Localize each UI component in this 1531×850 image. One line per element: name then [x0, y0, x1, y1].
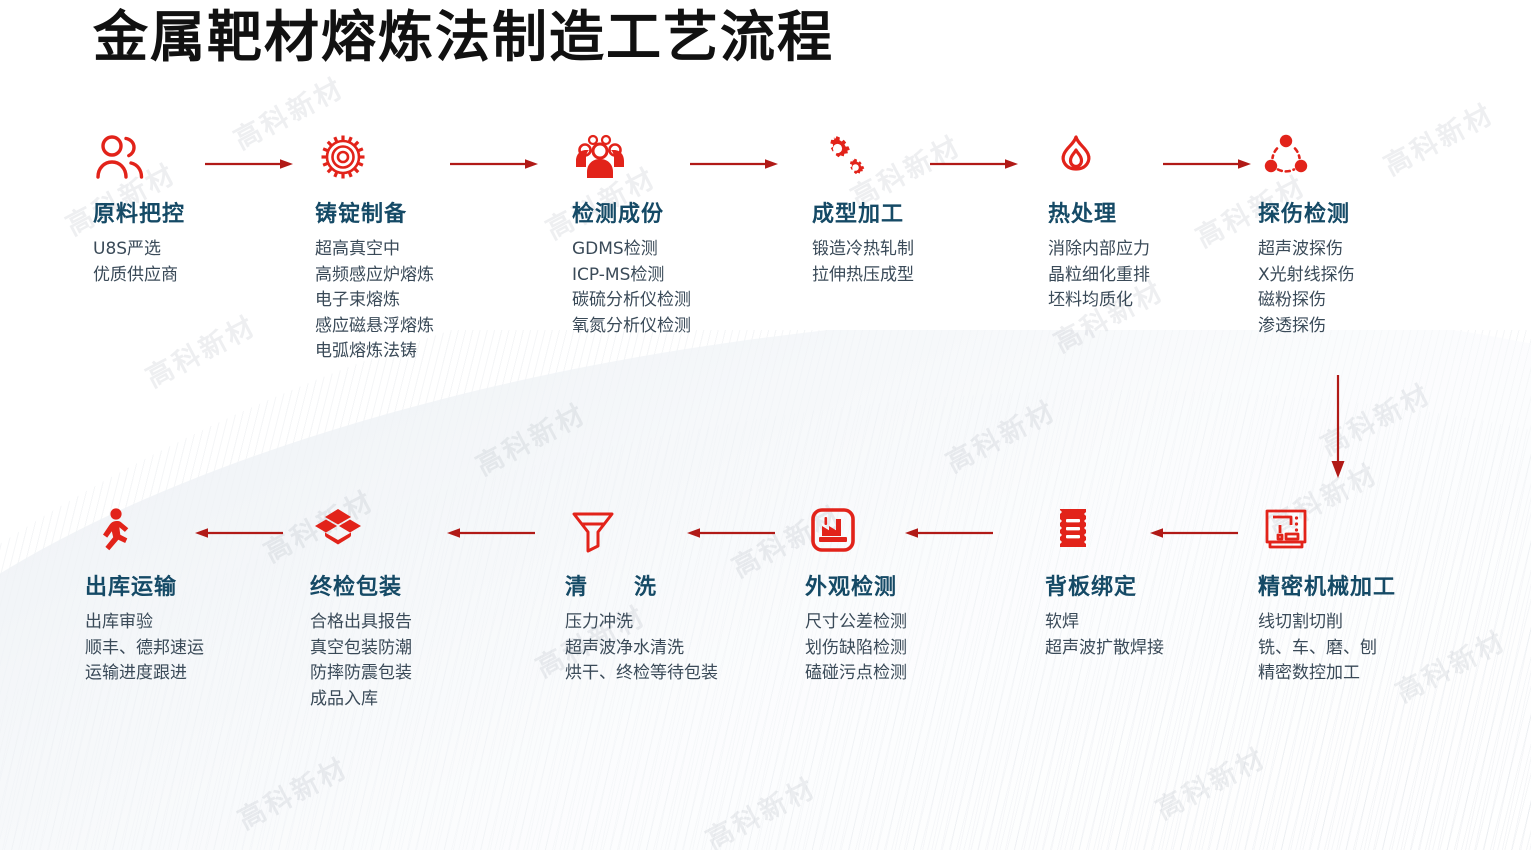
arrow-right-connector [450, 158, 538, 170]
arrow-left-connector [1150, 527, 1238, 539]
flow-step-detail-list: U8S严选优质供应商 [93, 237, 283, 288]
flow-step-detail-list: GDMS检测ICP-MS检测碳硫分析仪检测氧氮分析仪检测 [572, 237, 772, 339]
flow-step-title: 检测成份 [572, 196, 772, 228]
flow-step-detail-list: 超声波探伤X光射线探伤磁粉探伤渗透探伤 [1258, 237, 1438, 339]
flow-step-detail-item: X光射线探伤 [1258, 263, 1438, 289]
flow-step-detail-list: 软焊超声波扩散焊接 [1045, 610, 1230, 661]
flow-step-detail-item: 氧氮分析仪检测 [572, 314, 772, 340]
flow-step-detail-item: 软焊 [1045, 610, 1230, 636]
flow-step-detail-item: 超声波探伤 [1258, 237, 1438, 263]
flow-step-detail-item: 拉伸热压成型 [812, 263, 1002, 289]
arrow-left-connector [447, 527, 535, 539]
flow-step-detail-item: 消除内部应力 [1048, 237, 1228, 263]
arrow-left-connector [195, 527, 283, 539]
flow-step-detail-item: 优质供应商 [93, 263, 283, 289]
page-title: 金属靶材熔炼法制造工艺流程 [93, 2, 834, 72]
flow-step-detail-item: 磁粉探伤 [1258, 288, 1438, 314]
flow-step-detail-list: 尺寸公差检测划伤缺陷检测磕碰污点检测 [805, 610, 990, 687]
flow-step-detail-item: 超声波扩散焊接 [1045, 636, 1230, 662]
flow-step-title: 背板绑定 [1045, 569, 1230, 601]
flow-step-detail-list: 消除内部应力晶粒细化重排坯料均质化 [1048, 237, 1228, 314]
flow-step-detail-list: 出库审验顺丰、德邦速运运输进度跟进 [85, 610, 280, 687]
flow-step-detail-item: 高频感应炉熔炼 [315, 263, 525, 289]
flow-step-detail-item: 超高真空中 [315, 237, 525, 263]
flow-step-detail-item: 感应磁悬浮熔炼 [315, 314, 525, 340]
arrow-right-connector [205, 158, 293, 170]
flow-step-title: 终检包装 [310, 569, 510, 601]
flow-step-title: 出库运输 [85, 569, 280, 601]
flow-step-detail-item: U8S严选 [93, 237, 283, 263]
flow-step-detail-item: 防摔防震包装 [310, 661, 510, 687]
flow-step-detail-list: 合格出具报告真空包装防潮防摔防震包装成品入库 [310, 610, 510, 712]
flow-step-detail-list: 线切割切削铣、车、磨、刨精密数控加工 [1258, 610, 1458, 687]
flow-step-title: 精密机械加工 [1258, 569, 1458, 601]
flow-step-detail-item: 晶粒细化重排 [1048, 263, 1228, 289]
flow-step-detail-item: 压力冲洗 [565, 610, 750, 636]
flow-step-detail-item: 烘干、终检等待包装 [565, 661, 750, 687]
flow-step-detail-item: 真空包装防潮 [310, 636, 510, 662]
flow-step-raw-material-control[interactable]: 原料把控 U8S严选优质供应商 [93, 132, 283, 288]
arrow-down-connector [1324, 375, 1352, 480]
flow-step-title: 探伤检测 [1258, 196, 1438, 228]
flow-step-detail-item: 线切割切削 [1258, 610, 1458, 636]
flow-step-detail-item: 电子束熔炼 [315, 288, 525, 314]
flow-step-detail-item: 锻造冷热轧制 [812, 237, 1002, 263]
flow-step-precision-machining[interactable]: 精密机械加工 线切割切削铣、车、磨、刨精密数控加工 [1258, 505, 1458, 687]
flow-step-detail-list: 锻造冷热轧制拉伸热压成型 [812, 237, 1002, 288]
flow-step-detail-item: 划伤缺陷检测 [805, 636, 990, 662]
arrow-right-connector [690, 158, 778, 170]
three-node-network-icon [1258, 132, 1438, 184]
flow-step-title: 铸锭制备 [315, 196, 525, 228]
arrow-right-connector [1163, 158, 1251, 170]
arrow-left-connector [687, 527, 775, 539]
flow-step-detail-item: 出库审验 [85, 610, 280, 636]
flow-step-detail-item: 精密数控加工 [1258, 661, 1458, 687]
flow-step-detail-item: 渗透探伤 [1258, 314, 1438, 340]
cnc-machine-icon [1258, 505, 1458, 557]
flow-step-detail-item: 超声波净水清洗 [565, 636, 750, 662]
flow-step-forming-processing[interactable]: 成型加工 锻造冷热轧制拉伸热压成型 [812, 132, 1002, 288]
flow-step-title: 热处理 [1048, 196, 1228, 228]
flow-step-detail-item: 碳硫分析仪检测 [572, 288, 772, 314]
flow-step-detail-item: 坯料均质化 [1048, 288, 1228, 314]
flow-step-detail-item: 合格出具报告 [310, 610, 510, 636]
flow-step-detail-list: 超高真空中高频感应炉熔炼电子束熔炼感应磁悬浮熔炼电弧熔炼法铸 [315, 237, 525, 365]
flow-step-detail-item: 尺寸公差检测 [805, 610, 990, 636]
flow-step-title: 清 洗 [565, 569, 750, 601]
arrow-right-connector [930, 158, 1018, 170]
flow-step-detail-item: 顺丰、德邦速运 [85, 636, 280, 662]
flow-step-title: 原料把控 [93, 196, 283, 228]
flow-step-detail-item: 运输进度跟进 [85, 661, 280, 687]
flow-step-detail-list: 压力冲洗超声波净水清洗烘干、终检等待包装 [565, 610, 750, 687]
flow-step-detail-item: 铣、车、磨、刨 [1258, 636, 1458, 662]
flow-step-detail-item: 磕碰污点检测 [805, 661, 990, 687]
flow-step-flaw-detection[interactable]: 探伤检测 超声波探伤X光射线探伤磁粉探伤渗透探伤 [1258, 132, 1438, 339]
flow-step-detail-item: GDMS检测 [572, 237, 772, 263]
flow-step-detail-item: 成品入库 [310, 687, 510, 713]
flow-step-detail-item: 电弧熔炼法铸 [315, 339, 525, 365]
flow-step-detail-item: ICP-MS检测 [572, 263, 772, 289]
flow-step-title: 成型加工 [812, 196, 1002, 228]
arrow-left-connector [905, 527, 993, 539]
flow-step-title: 外观检测 [805, 569, 990, 601]
